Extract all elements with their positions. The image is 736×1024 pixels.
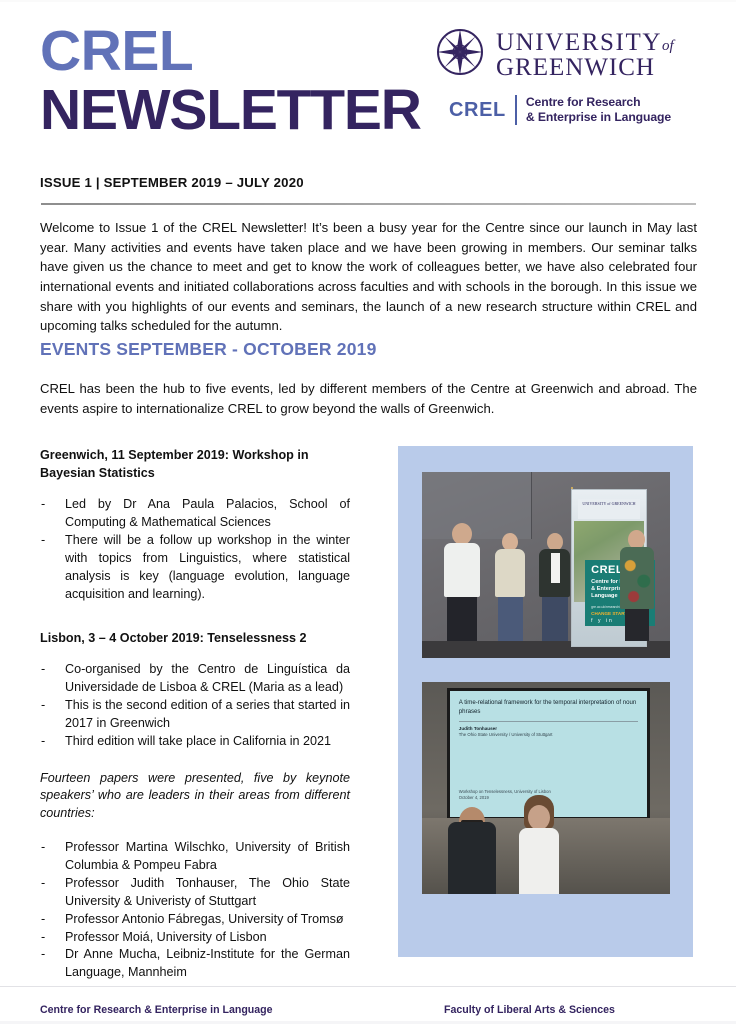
list-item: -Professor Judith Tonhauser, The Ohio St… xyxy=(40,875,350,911)
newsletter-page: CREL NEWSLETTER xyxy=(0,0,736,1024)
university-of-word: of xyxy=(662,38,674,54)
photo1-person-1-head xyxy=(452,523,472,545)
photo1-person-3-legs xyxy=(542,597,568,641)
page-top-edge xyxy=(0,0,736,2)
photo2-person-2-head xyxy=(528,805,550,830)
university-wordmark: UNIVERSITYof GREENWICH xyxy=(496,30,674,80)
university-logo: UNIVERSITYof GREENWICH CREL Centre for R… xyxy=(436,28,700,125)
bullet-marker: - xyxy=(41,661,45,679)
photo1-person-4-legs xyxy=(625,609,649,641)
bullet-marker: - xyxy=(41,532,45,550)
photo1-person-2-body xyxy=(495,549,525,597)
issue-line: ISSUE 1 | SEPTEMBER 2019 – JULY 2020 xyxy=(40,175,304,190)
masthead: CREL NEWSLETTER xyxy=(40,22,460,139)
list-item-text: Professor Moiá, University of Lisbon xyxy=(65,930,267,944)
photo1-person-4-body xyxy=(620,547,654,609)
list-item: -Co-organised by the Centro de Linguísti… xyxy=(40,661,350,697)
events-column: Greenwich, 11 September 2019: Workshop i… xyxy=(40,447,350,982)
list-item: -Professor Antonio Fábregas, University … xyxy=(40,911,350,929)
photo2-person-2 xyxy=(511,795,566,894)
photo1-person-1-legs xyxy=(447,597,477,641)
bullet-marker: - xyxy=(41,496,45,514)
section-intro-paragraph: CREL has been the hub to five events, le… xyxy=(40,379,697,418)
list-item-text: Led by Dr Ana Paula Palacios, School of … xyxy=(65,497,350,529)
speakers-note: Fourteen papers were presented, five by … xyxy=(40,770,350,824)
photo1-person-3-body xyxy=(539,549,570,597)
crel-subtitle-line1: Centre for Research xyxy=(526,95,671,110)
list-item: -There will be a follow up workshop in t… xyxy=(40,532,350,604)
list-item-text: There will be a follow up workshop in th… xyxy=(65,533,350,601)
list-item: -Professor Martina Wilschko, University … xyxy=(40,839,350,875)
footer-left-text: Centre for Research & Enterprise in Lang… xyxy=(40,1004,273,1016)
bullet-marker: - xyxy=(41,733,45,751)
photo2-slide-author: Judith Tonhauser xyxy=(459,726,638,731)
event-heading-greenwich: Greenwich, 11 September 2019: Workshop i… xyxy=(40,447,350,482)
bullet-marker: - xyxy=(41,839,45,857)
bullet-marker: - xyxy=(41,875,45,893)
section-title: EVENTS SEPTEMBER - OCTOBER 2019 xyxy=(40,339,377,360)
list-item: -Third edition will take place in Califo… xyxy=(40,733,350,751)
event-bullets-greenwich: -Led by Dr Ana Paula Palacios, School of… xyxy=(40,496,350,603)
bullet-marker: - xyxy=(41,946,45,964)
speakers-list: -Professor Martina Wilschko, University … xyxy=(40,839,350,982)
list-item-text: Dr Anne Mucha, Leibniz-Institute for the… xyxy=(65,947,350,979)
list-item-text: Professor Martina Wilschko, University o… xyxy=(65,840,350,872)
event-bullets-lisbon: -Co-organised by the Centro de Linguísti… xyxy=(40,661,350,750)
university-name-line1: UNIVERSITYof xyxy=(496,30,674,55)
footer-right-text: Faculty of Liberal Arts & Sciences xyxy=(444,1004,615,1016)
photo1-banner-university-text: UNIVERSITY of GREENWICH xyxy=(578,499,641,507)
photo1-person-4 xyxy=(613,530,660,641)
list-item: -Professor Moiá, University of Lisbon xyxy=(40,929,350,947)
photo-crel-members-banner: UNIVERSITY of GREENWICH CREL Centre for … xyxy=(422,472,670,658)
list-item-text: This is the second edition of a series t… xyxy=(65,698,350,730)
photo1-person-3 xyxy=(534,533,576,641)
university-logo-top: UNIVERSITYof GREENWICH xyxy=(436,28,700,81)
photo1-person-2 xyxy=(489,533,531,641)
bullet-marker: - xyxy=(41,911,45,929)
event-heading-lisbon: Lisbon, 3 – 4 October 2019: Tenselessnes… xyxy=(40,630,350,648)
masthead-title-crel: CREL xyxy=(40,22,460,81)
crel-divider xyxy=(515,95,517,125)
photo1-person-1 xyxy=(437,523,487,641)
list-item: -This is the second edition of a series … xyxy=(40,697,350,733)
crel-subtitle-line2: & Enterprise in Language xyxy=(526,110,671,125)
list-item-text: Co-organised by the Centro de Linguístic… xyxy=(65,662,350,694)
photo2-person-2-body xyxy=(519,828,559,894)
photo1-person-1-body xyxy=(444,543,480,597)
list-item-text: Third edition will take place in Califor… xyxy=(65,734,331,748)
photo2-person-1 xyxy=(442,807,502,894)
page-header: CREL NEWSLETTER xyxy=(40,22,700,172)
photo2-slide-affiliation: The Ohio State University / University o… xyxy=(459,732,638,737)
masthead-title-newsletter: NEWSLETTER xyxy=(40,81,460,140)
compass-rose-icon xyxy=(436,28,484,81)
university-name-line2: GREENWICH xyxy=(496,55,674,80)
footer-divider xyxy=(0,986,736,987)
list-item: -Dr Anne Mucha, Leibniz-Institute for th… xyxy=(40,946,350,982)
photo2-person-1-body xyxy=(448,822,496,894)
photo1-banner-logo: UNIVERSITY of GREENWICH xyxy=(578,499,641,519)
crel-logo-subtitle: Centre for Research & Enterprise in Lang… xyxy=(526,95,671,125)
photo2-slide-title: A time-relational framework for the temp… xyxy=(459,699,638,715)
list-item-text: Professor Judith Tonhauser, The Ohio Sta… xyxy=(65,876,350,908)
bullet-marker: - xyxy=(41,697,45,715)
photo1-person-2-legs xyxy=(498,597,523,641)
bullet-marker: - xyxy=(41,929,45,947)
crel-lockup: CREL Centre for Research & Enterprise in… xyxy=(449,95,700,125)
list-item-text: Professor Antonio Fábregas, University o… xyxy=(65,912,344,926)
list-item: -Led by Dr Ana Paula Palacios, School of… xyxy=(40,496,350,532)
intro-paragraph: Welcome to Issue 1 of the CREL Newslette… xyxy=(40,218,697,336)
crel-logo-mark: CREL xyxy=(449,99,506,122)
photo-panel: UNIVERSITY of GREENWICH CREL Centre for … xyxy=(398,446,693,957)
photo2-slide-divider xyxy=(459,721,638,722)
photo-tenselessness-talk: A time-relational framework for the temp… xyxy=(422,682,670,894)
header-divider xyxy=(41,203,696,205)
photo1-person-3-shirt xyxy=(551,553,560,583)
